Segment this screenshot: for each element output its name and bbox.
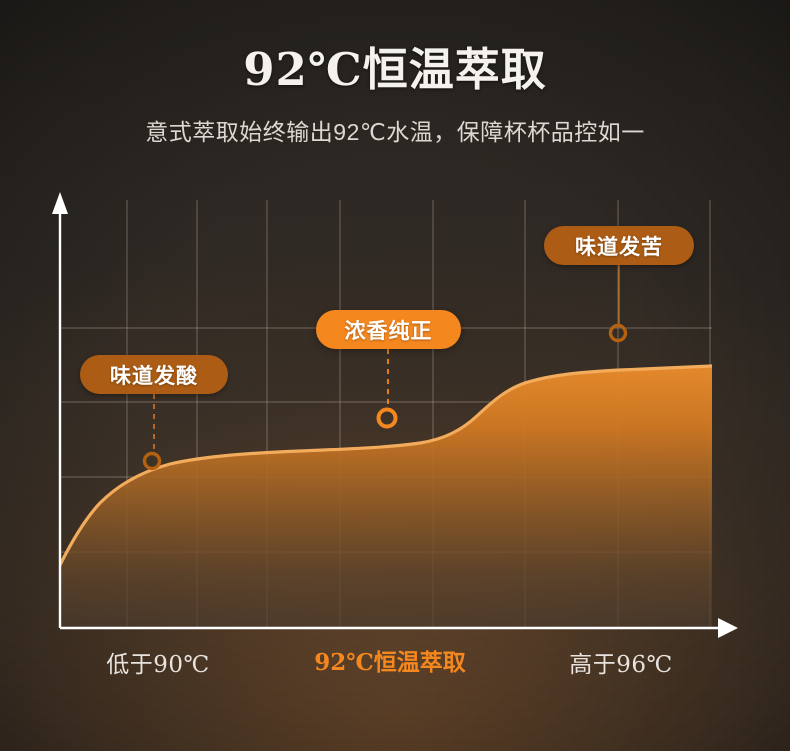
y-axis-arrow-icon: [52, 192, 68, 214]
data-marker-pure[interactable]: [379, 410, 396, 427]
annotation-badge-sour[interactable]: 味道发酸: [80, 355, 228, 394]
promo-graphic: 92℃恒温萃取 意式萃取始终输出92℃水温，保障杯杯品控如一: [0, 0, 790, 751]
x-axis-label-optimal-temp: 92℃恒温萃取: [290, 648, 490, 678]
data-marker-sour[interactable]: [145, 454, 160, 469]
annotation-badge-bitter[interactable]: 味道发苦: [544, 226, 694, 265]
x-axis-arrow-icon: [718, 618, 738, 638]
x-axis-label-low-temp: 低于90℃: [83, 650, 233, 680]
annotation-badge-pure[interactable]: 浓香纯正: [316, 310, 461, 349]
x-axis-label-high-temp: 高于96℃: [546, 650, 696, 680]
chart-area-fill: [60, 366, 712, 628]
